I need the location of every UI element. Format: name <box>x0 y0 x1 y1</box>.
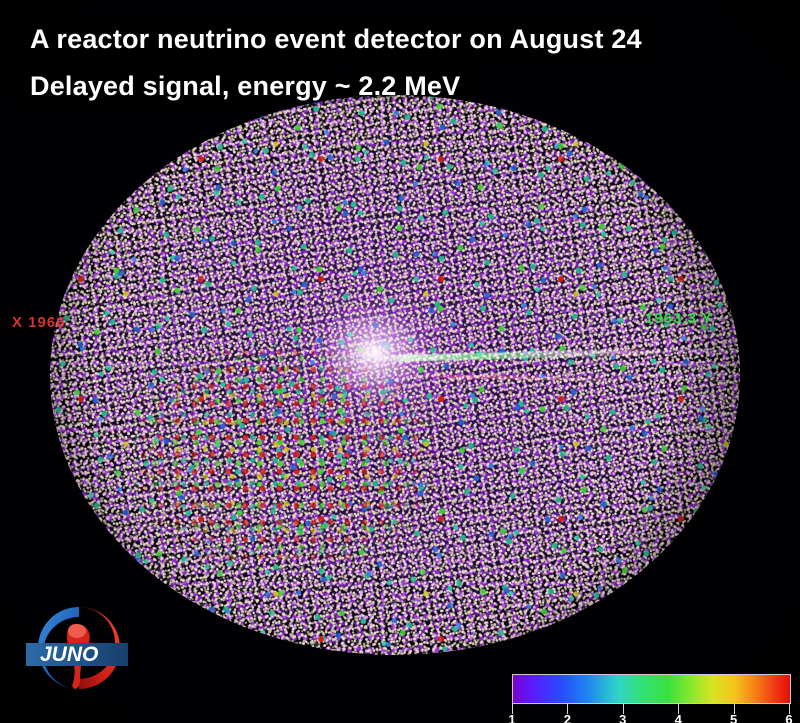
colorbar-tick-label: 6 <box>785 712 792 723</box>
juno-logo-mark: JUNO <box>20 598 138 698</box>
page-subtitle: Delayed signal, energy ~ 2.2 MeV <box>30 71 460 102</box>
colorbar-gradient <box>512 674 791 704</box>
logo-wordmark: JUNO <box>40 643 98 666</box>
colorbar-container: 123456 <box>512 674 789 723</box>
colorbar-tick-row: 123456 <box>512 704 789 723</box>
sphere-vignette <box>50 95 740 655</box>
logo-drop-highlight <box>68 624 86 638</box>
colorbar-tick-label: 1 <box>508 712 515 723</box>
page-title: A reactor neutrino event detector on Aug… <box>30 24 642 55</box>
x-axis-label: X 1966 <box>12 314 66 331</box>
y-axis-label: 1963.3 Y <box>645 310 713 327</box>
event-display-canvas: X 1966 1963.3 Y A reactor neutrino event… <box>0 0 800 723</box>
detector-sphere <box>50 95 740 655</box>
detector-sphere-container <box>50 95 740 655</box>
colorbar-tick-label: 2 <box>564 712 571 723</box>
colorbar-tick-label: 4 <box>675 712 682 723</box>
juno-logo[interactable]: JUNO <box>20 598 138 698</box>
colorbar-tick-label: 3 <box>619 712 626 723</box>
colorbar-tick-label: 5 <box>730 712 737 723</box>
